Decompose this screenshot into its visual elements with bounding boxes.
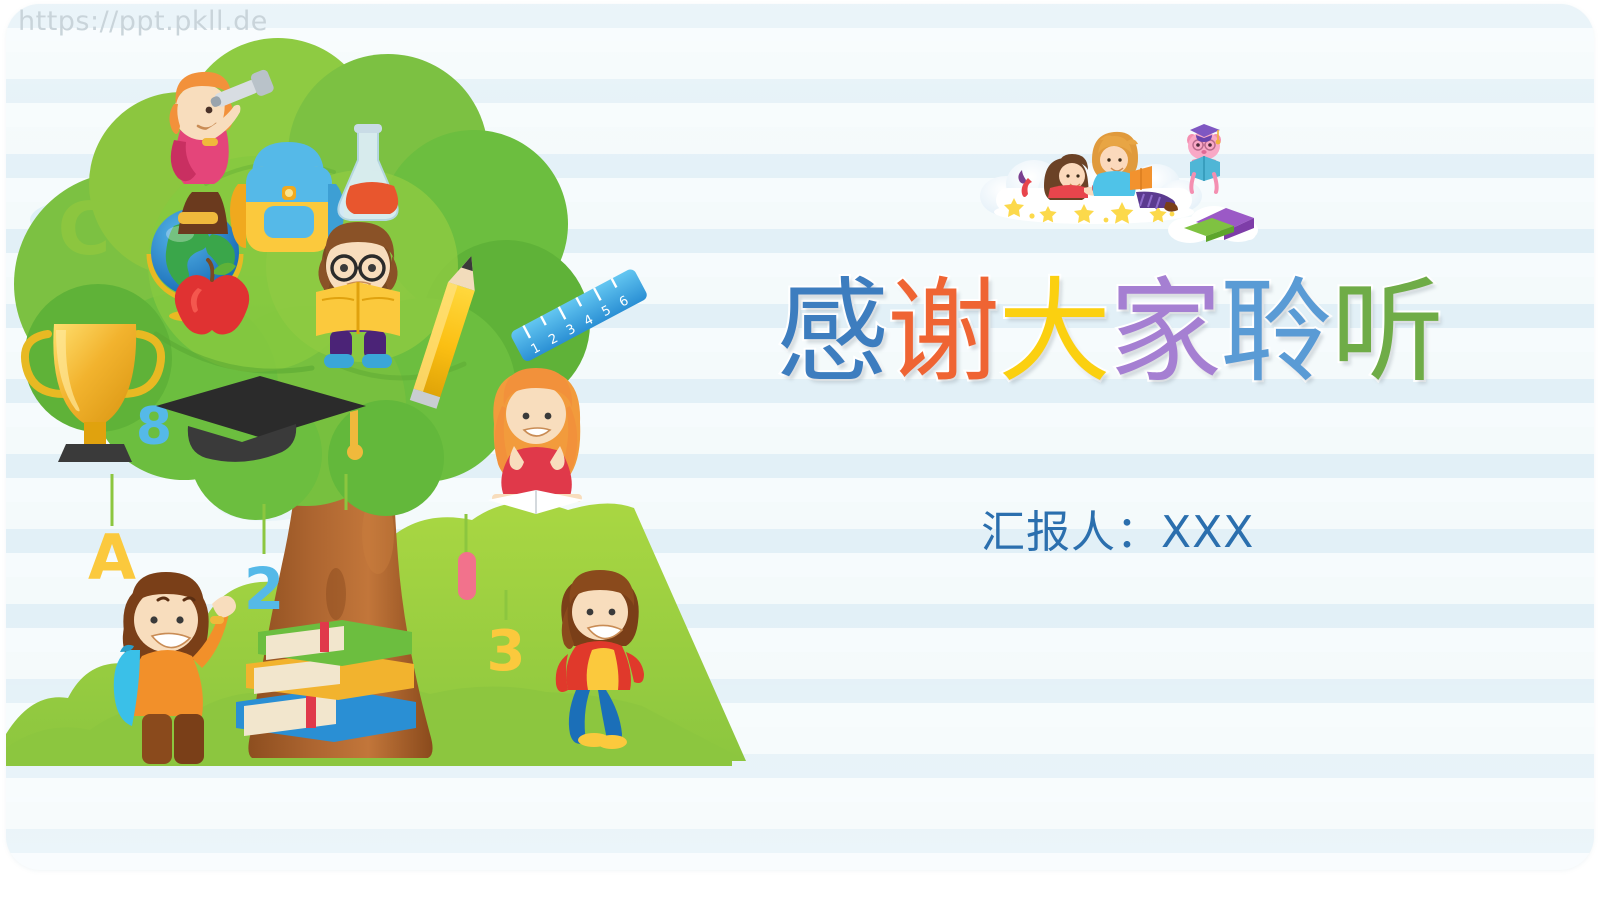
title-char-6: 听 [1331,276,1444,389]
svg-text:C: C [58,187,111,271]
title-char-5: 聆 [1220,276,1333,389]
letter-c-icon: C [58,187,111,271]
hanging-number-3: 3 [487,619,526,684]
title-char-1: 感 [776,276,889,389]
title-char-4: 家 [1109,276,1222,389]
title-char-3: 大 [998,276,1111,389]
page-title: 感 谢 大 家 聆 听 [776,272,1466,392]
site-watermark: https://ppt.pkll.de [18,6,268,37]
hanging-pink-capsule [458,552,476,600]
education-tree-illustration: A 2 3 C 8 [6,34,746,769]
hanging-letter-a: A [88,521,136,594]
title-char-2: 谢 [887,276,1000,389]
hanging-number-2: 2 [244,555,284,623]
svg-text:A: A [88,521,136,594]
girl-with-book [488,368,584,514]
presenter-subtitle: 汇报人：XXX [981,496,1254,560]
slide-canvas: A 2 3 C 8 [6,4,1594,870]
svg-text:3: 3 [487,619,526,684]
book-stack [236,620,416,742]
kids-reading-on-cloud-illustration [966,104,1266,254]
slide-root: A 2 3 C 8 [0,0,1600,900]
svg-text:2: 2 [244,555,284,623]
bear-with-graduation-cap [1187,124,1221,192]
